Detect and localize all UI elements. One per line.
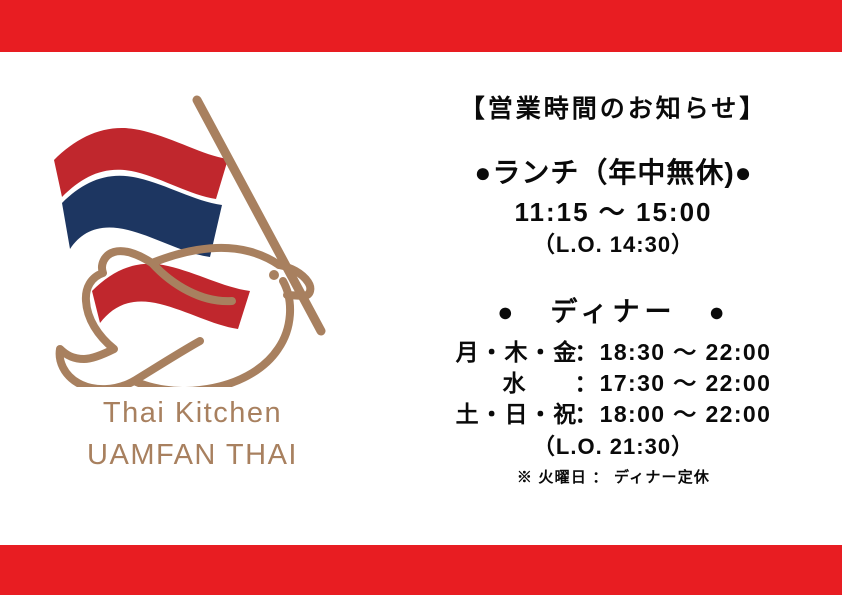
top-red-band [0, 0, 842, 52]
dinner-row-separator: ： [574, 399, 600, 430]
dove-tail [134, 341, 200, 381]
dinner-row-days: 土・日・祝 [456, 399, 574, 430]
lunch-title: ●ランチ（年中無休)● [385, 156, 842, 190]
brand-name: Thai Kitchen UAMFAN THAI [0, 392, 385, 476]
poster-content: Thai Kitchen UAMFAN THAI 【営業時間のお知らせ】 ●ラン… [0, 52, 842, 545]
dinner-rows: 月・木・金 ： 18:30 〜 22:00 水 ： 17:30 〜 22:00 … [385, 337, 842, 430]
flag-band-red-bottom [92, 264, 250, 329]
closed-day-note: ※ 火曜日 ： ディナー定休 [385, 467, 842, 489]
dinner-row-separator: ： [574, 368, 600, 399]
dinner-row-days: 月・木・金 [456, 337, 574, 368]
dinner-row: 土・日・祝 ： 18:00 〜 22:00 [385, 399, 842, 430]
dinner-row: 水 ： 17:30 〜 22:00 [385, 368, 842, 399]
dinner-row-time: 17:30 〜 22:00 [600, 368, 772, 399]
lunch-time: 11:15 〜 15:00 [385, 196, 842, 228]
dinner-row-time: 18:00 〜 22:00 [600, 399, 772, 430]
dove-eye [269, 270, 279, 280]
dinner-row-separator: ： [574, 337, 600, 368]
business-hours-poster: Thai Kitchen UAMFAN THAI 【営業時間のお知らせ】 ●ラン… [0, 0, 842, 595]
hours-column: 【営業時間のお知らせ】 ●ランチ（年中無休)● 11:15 〜 15:00 （L… [385, 52, 842, 545]
brand-line-1: Thai Kitchen [0, 392, 385, 434]
bottom-red-band [0, 545, 842, 595]
dinner-row-time: 18:30 〜 22:00 [600, 337, 772, 368]
dove-with-thai-flag-logo-icon [40, 87, 350, 387]
dinner-last-order: （L.O. 21:30） [385, 433, 842, 461]
lunch-last-order: （L.O. 14:30） [385, 231, 842, 259]
dinner-row-days: 水 [456, 368, 574, 399]
dinner-title: ● ディナー ● [385, 295, 842, 329]
brand-line-2: UAMFAN THAI [0, 434, 385, 476]
logo-column: Thai Kitchen UAMFAN THAI [0, 52, 385, 545]
dinner-row: 月・木・金 ： 18:30 〜 22:00 [385, 337, 842, 368]
hours-headline: 【営業時間のお知らせ】 [385, 93, 842, 125]
